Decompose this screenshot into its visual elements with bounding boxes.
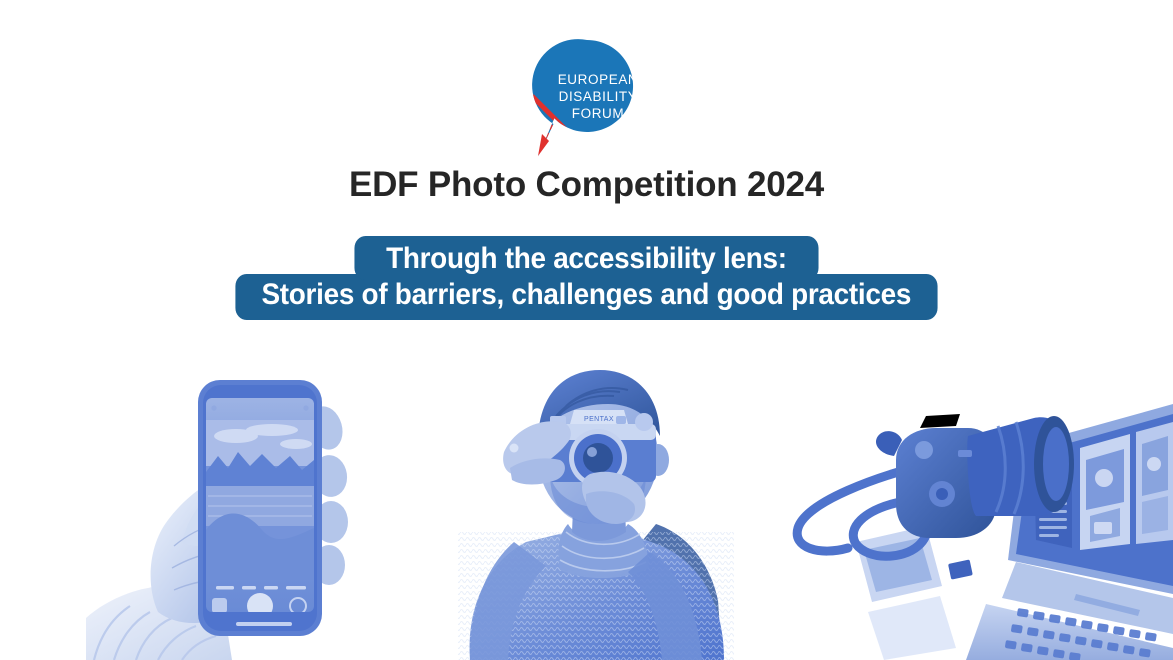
page-title: EDF Photo Competition 2024 bbox=[0, 166, 1173, 205]
man-with-film-camera-svg: PENTAX bbox=[418, 356, 768, 660]
poster-canvas: EUROPEAN DISABILITY FORUM EDF Photo Comp… bbox=[0, 0, 1173, 660]
hand-holding-smartphone-svg bbox=[86, 360, 416, 660]
logo-text-line-1: EUROPEAN bbox=[557, 72, 638, 87]
logo-text-line-2: DISABILITY bbox=[558, 89, 637, 104]
smartphone bbox=[198, 380, 322, 636]
logo-svg: EUROPEAN DISABILITY FORUM bbox=[512, 34, 662, 164]
camera-brand-label: PENTAX bbox=[584, 416, 614, 423]
subtitle-banner: Through the accessibility lens: Stories … bbox=[0, 236, 1173, 320]
man-with-film-camera-photo: PENTAX bbox=[418, 356, 768, 660]
photo-strip: PENTAX bbox=[0, 356, 1173, 660]
subtitle-banner-line-1: Through the accessibility lens: bbox=[355, 236, 819, 280]
hand-holding-smartphone-photo bbox=[86, 360, 416, 660]
subtitle-banner-line-2: Stories of barriers, challenges and good… bbox=[236, 274, 938, 320]
camera-and-laptop-svg bbox=[790, 398, 1173, 660]
camera-and-laptop-photo bbox=[790, 398, 1173, 660]
logo-tail-stripe bbox=[538, 134, 549, 156]
memory-card bbox=[948, 559, 973, 579]
printed-photos bbox=[856, 526, 956, 660]
logo-text-line-3: FORUM bbox=[571, 106, 624, 121]
european-disability-forum-logo: EUROPEAN DISABILITY FORUM bbox=[512, 34, 662, 164]
